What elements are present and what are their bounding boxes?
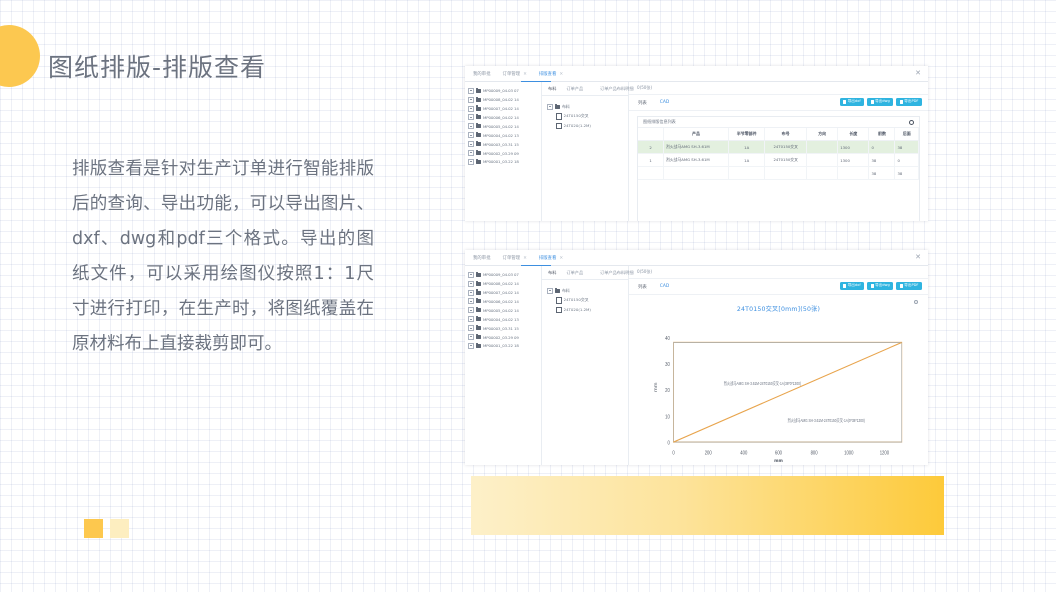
folder-icon	[476, 273, 481, 277]
folder-icon	[476, 151, 481, 155]
file-tree-label: MP00008_04.02 14	[483, 97, 519, 102]
export-dwg-label: 导出dwg	[875, 100, 890, 104]
chart-ytick: 40	[665, 335, 670, 342]
export-dxf-label: 导出dxf	[848, 100, 861, 104]
inner-tab-order-product-fabric-detail[interactable]: 订单产品布料明细	[600, 86, 634, 92]
expand-icon[interactable]	[468, 159, 474, 165]
cell-direction	[806, 167, 837, 180]
folder-icon	[555, 289, 560, 293]
folder-icon	[476, 308, 481, 312]
app-tab-approvals[interactable]: 我的审批	[473, 71, 491, 77]
folder-icon	[476, 344, 481, 348]
file-tree-label: MP00007_04.02 14	[483, 290, 519, 295]
inner-tab-bar: 布料 订单产品 订单产品布料明细	[542, 82, 628, 96]
file-tree-item[interactable]: MP00004_04.02 13	[468, 315, 538, 323]
folder-icon	[476, 291, 481, 295]
subtree-child-item[interactable]: 24T020(1.2M)	[547, 306, 624, 314]
folder-icon	[555, 105, 560, 109]
chart-plot-area: mm 40 30 20 10 0	[637, 315, 920, 462]
file-tree-item[interactable]: MP00003_03.31 15	[468, 324, 538, 332]
subtree-root-item[interactable]: 布料	[547, 103, 624, 111]
file-tree-item[interactable]: MP00003_03.31 15	[468, 140, 538, 148]
folder-icon	[476, 124, 481, 128]
app-tab-order-management[interactable]: 订单管理✕	[503, 255, 527, 261]
cell-product: 烈火战马AMG SH-3.61M	[664, 141, 729, 154]
file-tree-label: MP00005_04.02 14	[483, 308, 519, 313]
chart-ytick: 0	[668, 440, 671, 447]
layout-table-card: 图纸排版信息列表 产品 半节零部件 布号 方向 长度	[637, 116, 920, 221]
page-title: 图纸排版-排版查看	[48, 48, 266, 84]
file-tree-item[interactable]: MP00006_04.02 14	[468, 298, 538, 306]
export-pdf-label: 导出PDF	[904, 100, 918, 104]
chart-ytick: 30	[665, 362, 670, 369]
decoration-circle	[0, 25, 40, 87]
chart-xtick: 1000	[844, 450, 854, 457]
expand-icon[interactable]	[468, 281, 474, 287]
layout-chart-card: 24T0150交叉[0mm](50张) mm 40 30 20 10 0	[637, 299, 920, 462]
fabric-subtree: 布料 24T0150交叉 24T020(1.2M)	[542, 96, 628, 130]
page-body-text: 排版查看是针对生产订单进行智能排版后的查询、导出功能，可以导出图片、dxf、dw…	[72, 152, 374, 362]
expand-icon[interactable]	[468, 298, 474, 304]
export-pdf-button[interactable]: 导出PDF	[896, 282, 922, 290]
subtree-child-label: 24T0150交叉	[564, 113, 589, 119]
folder-icon	[476, 115, 481, 119]
subtree-child-item[interactable]: 24T020(1.2M)	[547, 122, 624, 130]
expand-icon[interactable]	[468, 290, 474, 296]
file-tree-label: MP00005_04.02 14	[483, 124, 519, 129]
file-tree-label: MP00007_04.02 14	[483, 106, 519, 111]
expand-icon[interactable]	[468, 141, 474, 147]
file-tree-item[interactable]: MP00004_04.02 13	[468, 131, 538, 139]
decoration-square-solid	[84, 519, 103, 538]
folder-icon	[476, 326, 481, 330]
table-total-row: 38 38	[638, 167, 919, 180]
app-body: MP00009_04.03 07 MP00008_04.02 14 MP0000…	[465, 82, 928, 221]
chart-xtick: 400	[740, 450, 747, 457]
file-tree-item[interactable]: MP00007_04.02 14	[468, 289, 538, 297]
cell-fabric-no: 24T0150交叉	[765, 141, 807, 154]
export-pdf-button[interactable]: 导出PDF	[896, 98, 922, 106]
cell-product: 烈火战马AMG SH-3.61M	[664, 154, 729, 167]
tab-list[interactable]: 列表	[638, 284, 647, 290]
file-export-icon	[900, 284, 903, 288]
file-tree-label: MP00002_03.29 09	[483, 335, 519, 340]
cell-back-total: 38	[895, 167, 919, 180]
file-tree-item[interactable]: MP00009_04.03 07	[468, 87, 538, 95]
cell-length: 1300	[838, 141, 869, 154]
inner-tab-order-product-fabric-detail[interactable]: 订单产品布料明细	[600, 270, 634, 276]
decoration-gradient-bar	[471, 476, 944, 535]
folder-icon	[476, 317, 481, 321]
window-close-icon[interactable]: ✕	[915, 70, 921, 77]
cell-front: 0	[869, 141, 895, 154]
cell-direction	[806, 154, 837, 167]
screenshot-panel-table: 我的审批 订单管理✕ 排版查看✕ ✕ MP00009_04.03 07 MP00…	[465, 66, 928, 221]
slide-canvas: 图纸排版-排版查看 排版查看是针对生产订单进行智能排版后的查询、导出功能，可以导…	[0, 0, 1056, 592]
export-button-group: 导出dxf 导出dwg 导出PDF	[840, 98, 922, 106]
chart-xlabel: mm	[637, 458, 920, 463]
file-tree-item[interactable]: MP00005_04.02 14	[468, 307, 538, 315]
subtree-child-item[interactable]: 24T0150交叉	[547, 113, 624, 121]
layout-table-caption: 图纸排版信息列表	[643, 119, 676, 125]
tab-close-icon[interactable]: ✕	[559, 256, 563, 261]
expand-icon[interactable]	[468, 316, 474, 322]
file-icon	[556, 113, 562, 120]
file-tree-item[interactable]: MP00008_04.02 14	[468, 280, 538, 288]
column-header-front: 前数	[869, 128, 895, 141]
subtree-child-item[interactable]: 24T0150交叉	[547, 297, 624, 305]
file-tree-label: MP00006_04.02 14	[483, 115, 519, 120]
inner-tab-order-product[interactable]: 订单产品	[566, 270, 583, 276]
chart-xtick: 200	[705, 450, 712, 457]
tab-close-icon[interactable]: ✕	[523, 256, 527, 261]
export-pdf-label: 导出PDF	[904, 284, 918, 288]
cell-part: 1A	[728, 154, 764, 167]
tab-close-icon[interactable]: ✕	[559, 72, 563, 77]
file-tree-item[interactable]: MP00005_04.02 14	[468, 123, 538, 131]
expand-icon[interactable]	[468, 272, 474, 278]
column-header-length: 长度	[838, 128, 869, 141]
chart-xtick: 600	[775, 450, 782, 457]
folder-icon	[476, 335, 481, 339]
export-dwg-label: 导出dwg	[875, 284, 890, 288]
file-tree-item[interactable]: MP00006_04.02 14	[468, 114, 538, 122]
chart-xtick: 1200	[880, 450, 890, 457]
folder-icon	[476, 142, 481, 146]
table-row[interactable]: 2 烈火战马AMG SH-3.61M 1A 24T0150交叉 1300 0 3…	[638, 141, 919, 154]
expand-icon[interactable]	[468, 106, 474, 112]
file-tree-label: MP00006_04.02 14	[483, 299, 519, 304]
app-tab-approvals[interactable]: 我的审批	[473, 255, 491, 261]
column-header-fabric-no: 布号	[765, 128, 807, 141]
sub-tab-bar: 列表 CAD 导出dxf 导出dwg 导出PDF	[629, 279, 928, 295]
cell-product	[664, 167, 729, 180]
folder-icon	[476, 89, 481, 93]
file-tree-label: MP00009_04.03 07	[483, 88, 519, 93]
app-tab-label: 订单管理	[503, 256, 521, 261]
app-tab-label: 我的审批	[473, 256, 491, 261]
file-tree-label: MP00004_04.02 13	[483, 133, 519, 138]
app-tab-label: 排版查看	[539, 72, 557, 77]
cell-fabric-no	[765, 167, 807, 180]
cell-index: 1	[638, 154, 664, 167]
cell-direction	[806, 141, 837, 154]
export-button-group: 导出dxf 导出dwg 导出PDF	[840, 282, 922, 290]
layout-table-header: 图纸排版信息列表	[638, 117, 919, 128]
subtree-root-label: 布料	[562, 104, 570, 110]
chart-annotation-upper: 烈火战马AMG SH-3.61M-24T0150交叉-1A(38*0*1300)	[724, 380, 802, 386]
chart-ytick: 10	[665, 414, 670, 421]
file-export-icon	[843, 100, 846, 104]
file-tree-label: MP00001_03.22 18	[483, 343, 519, 348]
subtree-child-label: 24T020(1.2M)	[564, 307, 591, 312]
expand-icon[interactable]	[468, 123, 474, 129]
cell-fabric-no: 24T0150交叉	[765, 154, 807, 167]
file-tree-label: MP00003_03.31 15	[483, 326, 519, 331]
table-header-row: 产品 半节零部件 布号 方向 长度 前数 后面	[638, 128, 919, 141]
file-icon	[556, 123, 562, 130]
gear-icon[interactable]	[909, 120, 914, 125]
folder-icon	[476, 282, 481, 286]
folder-icon	[476, 98, 481, 102]
file-export-icon	[871, 284, 874, 288]
cell-part	[728, 167, 764, 180]
cell-front-total: 38	[869, 167, 895, 180]
file-icon	[556, 307, 562, 314]
cell-length	[838, 167, 869, 180]
export-dxf-button[interactable]: 导出dxf	[840, 282, 864, 290]
expand-icon[interactable]	[468, 150, 474, 156]
chart-annotation-lower: 烈火战马AMG SH-3.61M-24T0150交叉-1A(0*38*1300)	[788, 418, 866, 424]
tab-cad[interactable]: CAD	[660, 100, 669, 105]
expand-icon[interactable]	[468, 343, 474, 349]
expand-icon[interactable]	[468, 88, 474, 94]
file-tree-label: MP00009_04.03 07	[483, 272, 519, 277]
file-tree-label: MP00001_03.22 18	[483, 159, 519, 164]
right-content-pane: 0(50张) 列表 CAD 导出dxf 导出dwg 导出PDF 24T0150交…	[629, 266, 928, 465]
expand-icon[interactable]	[468, 334, 474, 340]
middle-column: 布料 订单产品 订单产品布料明细 布料 24T0150交叉 24T020(1.2…	[542, 82, 629, 221]
table-row[interactable]: 1 烈火战马AMG SH-3.61M 1A 24T0150交叉 1300 38 …	[638, 154, 919, 167]
export-dxf-button[interactable]: 导出dxf	[840, 98, 864, 106]
cell-index	[638, 167, 664, 180]
file-export-icon	[900, 100, 903, 104]
breadcrumb-row: 0(50张)	[629, 82, 928, 95]
inner-tab-fabric[interactable]: 布料	[548, 270, 556, 276]
screenshot-panel-chart: 我的审批 订单管理✕ 排版查看✕ ✕ MP00009_04.03 07 MP00…	[465, 250, 928, 465]
app-tab-label: 排版查看	[539, 256, 557, 261]
export-dwg-button[interactable]: 导出dwg	[867, 282, 893, 290]
chart-xtick: 0	[672, 450, 675, 457]
subtree-root-label: 布料	[562, 288, 570, 294]
chart-ytick: 20	[665, 388, 670, 395]
column-header-index	[638, 128, 664, 141]
app-tab-bar: 我的审批 订单管理✕ 排版查看✕ ✕	[465, 66, 928, 82]
file-tree-item[interactable]: MP00009_04.03 07	[468, 271, 538, 279]
expand-icon[interactable]	[468, 325, 474, 331]
file-tree-item[interactable]: MP00001_03.22 18	[468, 342, 538, 350]
cell-back: 38	[895, 141, 919, 154]
tab-cad[interactable]: CAD	[660, 284, 669, 289]
file-tree-panel: MP00009_04.03 07 MP00008_04.02 14 MP0000…	[465, 82, 542, 221]
expand-icon[interactable]	[547, 288, 553, 294]
column-header-direction: 方向	[806, 128, 837, 141]
expand-icon[interactable]	[547, 104, 553, 110]
expand-icon[interactable]	[468, 97, 474, 103]
file-tree-label: MP00008_04.02 14	[483, 281, 519, 286]
file-tree-item[interactable]: MP00002_03.29 09	[468, 333, 538, 341]
chart-diagonal-line	[674, 342, 902, 442]
subtree-child-label: 24T0150交叉	[564, 297, 589, 303]
chart-title: 24T0150交叉[0mm](50张)	[637, 304, 920, 313]
breadcrumb: 0(50张)	[637, 269, 652, 275]
cell-front: 38	[869, 154, 895, 167]
tab-close-icon[interactable]: ✕	[523, 72, 527, 77]
inner-tab-bar: 布料 订单产品 订单产品布料明细	[542, 266, 628, 280]
cell-part: 1A	[728, 141, 764, 154]
file-tree-item[interactable]: MP00007_04.02 14	[468, 105, 538, 113]
subtree-root-item[interactable]: 布料	[547, 287, 624, 295]
file-tree-item[interactable]: MP00002_03.29 09	[468, 149, 538, 157]
cell-index: 2	[638, 141, 664, 154]
inner-tab-fabric[interactable]: 布料	[548, 86, 556, 92]
fabric-subtree: 布料 24T0150交叉 24T020(1.2M)	[542, 280, 628, 314]
app-tab-layout-view[interactable]: 排版查看✕	[539, 255, 563, 261]
right-content-pane: 0(50张) 列表 CAD 导出dxf 导出dwg 导出PDF 图纸排版信息列表	[629, 82, 928, 221]
subtree-child-label: 24T020(1.2M)	[564, 123, 591, 128]
export-dxf-label: 导出dxf	[848, 284, 861, 288]
expand-icon[interactable]	[468, 114, 474, 120]
chart-xtick: 800	[811, 450, 818, 457]
layout-chart-svg: mm 40 30 20 10 0	[637, 315, 920, 462]
decoration-square-pale	[110, 519, 129, 538]
file-tree-label: MP00002_03.29 09	[483, 151, 519, 156]
cell-back: 0	[895, 154, 919, 167]
column-header-product: 产品	[664, 128, 729, 141]
file-export-icon	[843, 284, 846, 288]
file-tree-label: MP00004_04.02 13	[483, 317, 519, 322]
layout-table: 产品 半节零部件 布号 方向 长度 前数 后面 2	[638, 128, 919, 180]
file-tree-item[interactable]: MP00008_04.02 14	[468, 96, 538, 104]
export-dwg-button[interactable]: 导出dwg	[867, 98, 893, 106]
app-tab-label: 订单管理	[503, 72, 521, 77]
cell-length: 1300	[838, 154, 869, 167]
gear-icon[interactable]	[914, 300, 918, 304]
app-tab-bar: 我的审批 订单管理✕ 排版查看✕ ✕	[465, 250, 928, 266]
expand-icon[interactable]	[468, 132, 474, 138]
middle-column: 布料 订单产品 订单产品布料明细 布料 24T0150交叉 24T020(1.2…	[542, 266, 629, 465]
breadcrumb: 0(50张)	[637, 85, 652, 91]
column-header-part: 半节零部件	[728, 128, 764, 141]
folder-icon	[476, 133, 481, 137]
breadcrumb-row: 0(50张)	[629, 266, 928, 279]
tab-list[interactable]: 列表	[638, 100, 647, 106]
app-tab-layout-view[interactable]: 排版查看✕	[539, 71, 563, 77]
sub-tab-bar: 列表 CAD 导出dxf 导出dwg 导出PDF	[629, 95, 928, 111]
folder-icon	[476, 299, 481, 303]
file-export-icon	[871, 100, 874, 104]
file-icon	[556, 297, 562, 304]
expand-icon[interactable]	[468, 307, 474, 313]
app-tab-label: 我的审批	[473, 72, 491, 77]
inner-tab-order-product[interactable]: 订单产品	[566, 86, 583, 92]
file-tree-label: MP00003_03.31 15	[483, 142, 519, 147]
app-tab-order-management[interactable]: 订单管理✕	[503, 71, 527, 77]
file-tree-item[interactable]: MP00001_03.22 18	[468, 158, 538, 166]
window-close-icon[interactable]: ✕	[915, 254, 921, 261]
column-header-back: 后面	[895, 128, 919, 141]
folder-icon	[476, 160, 481, 164]
app-body: MP00009_04.03 07 MP00008_04.02 14 MP0000…	[465, 266, 928, 465]
file-tree-panel: MP00009_04.03 07 MP00008_04.02 14 MP0000…	[465, 266, 542, 465]
chart-ylabel: mm	[654, 382, 659, 392]
folder-icon	[476, 107, 481, 111]
